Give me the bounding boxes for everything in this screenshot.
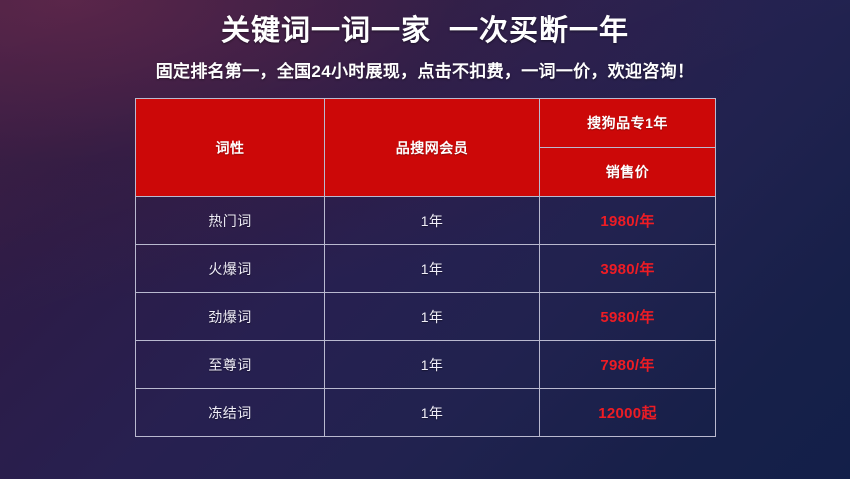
cell-price: 12000起 <box>540 389 716 437</box>
table-row: 火爆词 1年 3980/年 <box>136 245 716 293</box>
table-row: 至尊词 1年 7980/年 <box>136 341 716 389</box>
pricing-table-container: 词性 品搜网会员 搜狗品专1年 销售价 热门词 1年 1980/年 火爆词 1年… <box>135 98 715 437</box>
table-row: 劲爆词 1年 5980/年 <box>136 293 716 341</box>
cell-word-type: 火爆词 <box>136 245 325 293</box>
cell-price: 1980/年 <box>540 197 716 245</box>
column-header-sale-price: 销售价 <box>540 148 716 197</box>
table-body: 热门词 1年 1980/年 火爆词 1年 3980/年 劲爆词 1年 5980/… <box>136 197 716 437</box>
cell-price: 5980/年 <box>540 293 716 341</box>
page-title: 关键词一词一家 一次买断一年 <box>0 12 850 51</box>
cell-word-type: 劲爆词 <box>136 293 325 341</box>
table-header: 词性 品搜网会员 搜狗品专1年 销售价 <box>136 99 716 197</box>
cell-word-type: 热门词 <box>136 197 325 245</box>
column-header-sogou-brandzone: 搜狗品专1年 <box>540 99 716 148</box>
table-header-row: 词性 品搜网会员 搜狗品专1年 <box>136 99 716 148</box>
pricing-table: 词性 品搜网会员 搜狗品专1年 销售价 热门词 1年 1980/年 火爆词 1年… <box>135 98 716 437</box>
cell-membership: 1年 <box>325 293 540 341</box>
cell-price: 7980/年 <box>540 341 716 389</box>
promo-poster: 关键词一词一家 一次买断一年 固定排名第一，全国24小时展现，点击不扣费，一词一… <box>0 0 850 479</box>
poster-headings: 关键词一词一家 一次买断一年 固定排名第一，全国24小时展现，点击不扣费，一词一… <box>0 0 850 83</box>
cell-word-type: 至尊词 <box>136 341 325 389</box>
cell-membership: 1年 <box>325 197 540 245</box>
cell-membership: 1年 <box>325 341 540 389</box>
cell-price: 3980/年 <box>540 245 716 293</box>
table-row: 热门词 1年 1980/年 <box>136 197 716 245</box>
cell-membership: 1年 <box>325 245 540 293</box>
cell-membership: 1年 <box>325 389 540 437</box>
column-header-membership: 品搜网会员 <box>325 99 540 197</box>
cell-word-type: 冻结词 <box>136 389 325 437</box>
page-subtitle: 固定排名第一，全国24小时展现，点击不扣费，一词一价，欢迎咨询！ <box>0 61 850 83</box>
column-header-word-type: 词性 <box>136 99 325 197</box>
table-row: 冻结词 1年 12000起 <box>136 389 716 437</box>
